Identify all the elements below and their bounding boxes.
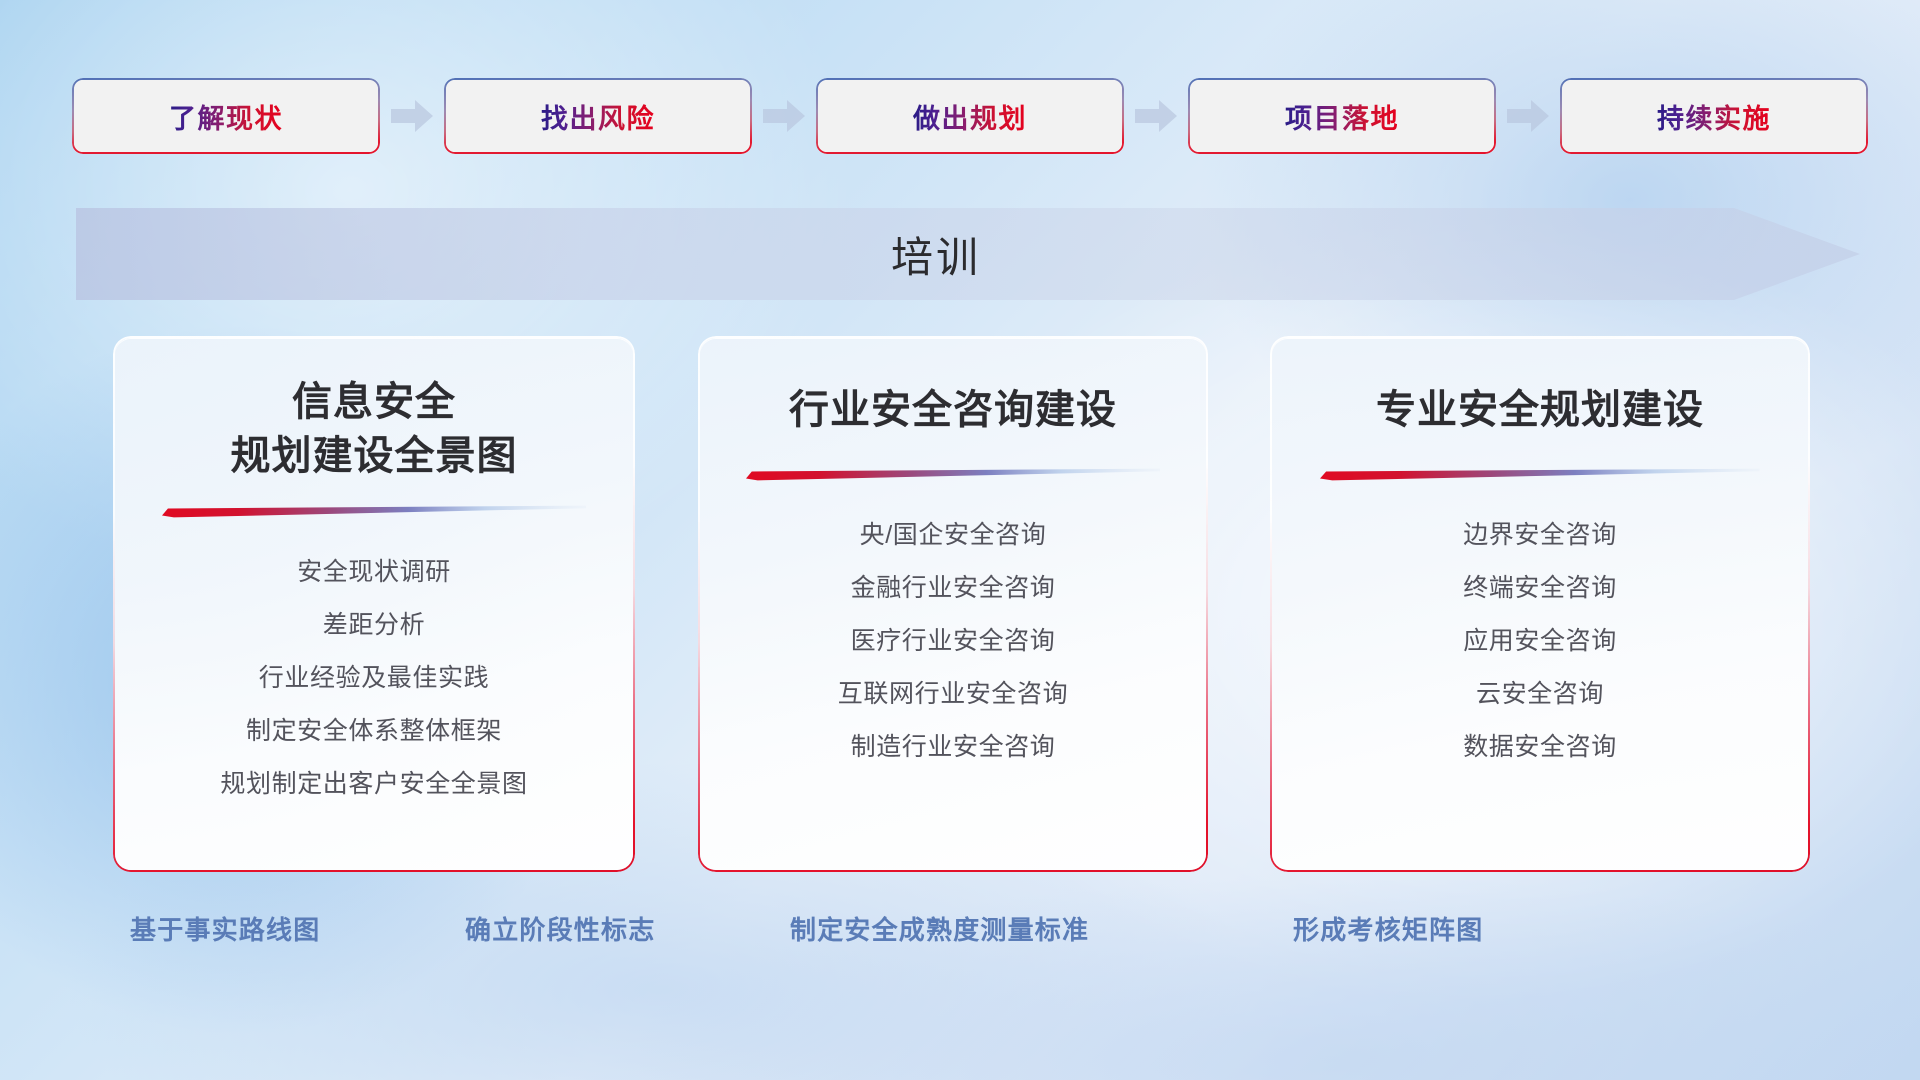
list-item[interactable]: 金融行业安全咨询	[851, 568, 1056, 604]
caption-label-2: 确立阶段性标志	[465, 910, 655, 947]
list-item[interactable]: 互联网行业安全咨询	[838, 674, 1068, 710]
list-item[interactable]: 制造行业安全咨询	[851, 727, 1056, 763]
service-card-inner: 专业安全规划建设边界安全咨询终端安全咨询应用安全咨询云安全咨询数据安全咨询	[1272, 338, 1808, 870]
process-step-4[interactable]: 项目落地	[1188, 78, 1496, 154]
process-step-label: 做出规划	[913, 97, 1027, 136]
process-step-label: 持续实施	[1657, 97, 1771, 136]
service-card-title-line: 信息安全	[231, 376, 518, 430]
process-step-label: 了解现状	[169, 97, 283, 136]
service-card-list: 央/国企安全咨询金融行业安全咨询医疗行业安全咨询互联网行业安全咨询制造行业安全咨…	[700, 515, 1206, 763]
process-step-inner: 了解现状	[74, 80, 378, 152]
list-item[interactable]: 规划制定出客户安全全景图	[220, 764, 527, 800]
caption-row: 基于事实路线图确立阶段性标志制定安全成熟度测量标准形成考核矩阵图	[0, 910, 1920, 970]
service-card-list: 安全现状调研差距分析行业经验及最佳实践制定安全体系整体框架规划制定出客户安全全景…	[115, 552, 633, 800]
arrow-right-icon	[391, 99, 433, 133]
accent-divider	[162, 505, 587, 518]
process-step-inner: 找出风险	[446, 80, 750, 152]
list-item[interactable]: 制定安全体系整体框架	[246, 711, 502, 747]
list-item[interactable]: 医疗行业安全咨询	[851, 621, 1056, 657]
process-step-label: 找出风险	[541, 97, 655, 136]
arrow-right-icon	[1135, 99, 1177, 133]
service-card-inner: 信息安全规划建设全景图安全现状调研差距分析行业经验及最佳实践制定安全体系整体框架…	[115, 338, 633, 870]
service-card-title-line: 专业安全规划建设	[1376, 384, 1704, 438]
training-banner-label: 培训	[76, 198, 1796, 310]
process-step-inner: 项目落地	[1190, 80, 1494, 152]
caption-label-1: 基于事实路线图	[130, 910, 320, 947]
process-step-3[interactable]: 做出规划	[816, 78, 1124, 154]
process-step-1[interactable]: 了解现状	[72, 78, 380, 154]
service-card-3[interactable]: 专业安全规划建设边界安全咨询终端安全咨询应用安全咨询云安全咨询数据安全咨询	[1270, 336, 1810, 872]
service-card-title: 行业安全咨询建设	[789, 384, 1117, 438]
service-card-1[interactable]: 信息安全规划建设全景图安全现状调研差距分析行业经验及最佳实践制定安全体系整体框架…	[113, 336, 635, 872]
list-item[interactable]: 终端安全咨询	[1463, 568, 1617, 604]
caption-label-3: 制定安全成熟度测量标准	[790, 910, 1089, 947]
process-step-row: 了解现状找出风险做出规划项目落地持续实施	[72, 78, 1852, 154]
service-card-title-line: 规划建设全景图	[231, 430, 518, 484]
caption-label-4: 形成考核矩阵图	[1293, 910, 1483, 947]
accent-divider	[1320, 468, 1760, 481]
training-banner: 培训	[76, 198, 1860, 310]
list-item[interactable]: 差距分析	[323, 605, 425, 641]
arrow-right-icon	[1507, 99, 1549, 133]
process-step-inner: 持续实施	[1562, 80, 1866, 152]
service-card-2[interactable]: 行业安全咨询建设央/国企安全咨询金融行业安全咨询医疗行业安全咨询互联网行业安全咨…	[698, 336, 1208, 872]
list-item[interactable]: 数据安全咨询	[1463, 727, 1617, 763]
process-step-5[interactable]: 持续实施	[1560, 78, 1868, 154]
card-row: 信息安全规划建设全景图安全现状调研差距分析行业经验及最佳实践制定安全体系整体框架…	[0, 336, 1920, 876]
accent-divider	[746, 468, 1161, 481]
arrow-right-icon	[763, 99, 805, 133]
list-item[interactable]: 行业经验及最佳实践	[259, 658, 489, 694]
process-step-label: 项目落地	[1285, 97, 1399, 136]
service-card-list: 边界安全咨询终端安全咨询应用安全咨询云安全咨询数据安全咨询	[1272, 515, 1808, 763]
service-card-title: 信息安全规划建设全景图	[231, 376, 518, 483]
list-item[interactable]: 云安全咨询	[1476, 674, 1604, 710]
service-card-title-line: 行业安全咨询建设	[789, 384, 1117, 438]
list-item[interactable]: 央/国企安全咨询	[860, 515, 1047, 551]
process-step-inner: 做出规划	[818, 80, 1122, 152]
service-card-title: 专业安全规划建设	[1376, 384, 1704, 438]
list-item[interactable]: 安全现状调研	[297, 552, 451, 588]
list-item[interactable]: 边界安全咨询	[1463, 515, 1617, 551]
service-card-inner: 行业安全咨询建设央/国企安全咨询金融行业安全咨询医疗行业安全咨询互联网行业安全咨…	[700, 338, 1206, 870]
list-item[interactable]: 应用安全咨询	[1463, 621, 1617, 657]
process-step-2[interactable]: 找出风险	[444, 78, 752, 154]
